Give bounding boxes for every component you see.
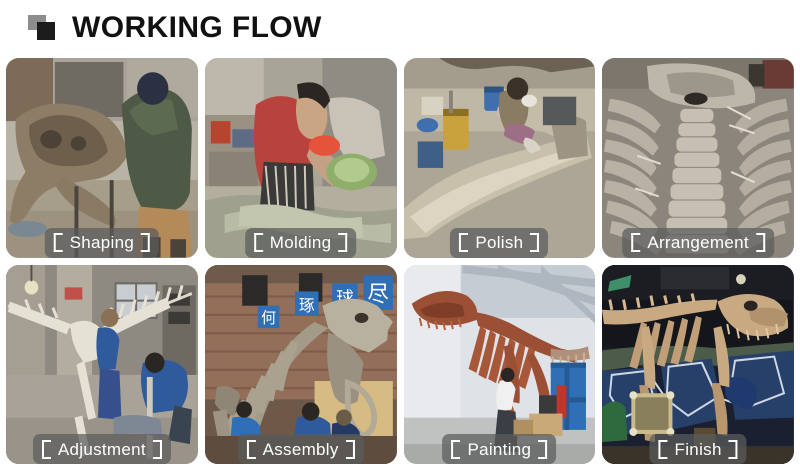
flow-step-finish[interactable]: Finish [602,265,794,465]
bracket-left-icon [631,233,640,252]
caption-shaping: Shaping [45,228,160,258]
caption-label: Arrangement [640,234,756,251]
caption-label: Painting [460,441,538,458]
flow-step-molding[interactable]: Molding [205,58,397,258]
flow-step-arrangement[interactable]: Arrangement [602,58,794,258]
bracket-right-icon [729,440,738,459]
flow-step-painting[interactable]: Painting [404,265,596,465]
svg-text:何: 何 [261,308,276,326]
caption-arrangement: Arrangement [622,228,774,258]
flow-step-assembly[interactable]: 何 琢 球 尽 [205,265,397,465]
caption-polish: Polish [450,228,548,258]
bracket-right-icon [338,233,347,252]
caption-label: Molding [263,234,339,251]
caption-label: Shaping [63,234,142,251]
bracket-left-icon [659,440,668,459]
bracket-left-icon [459,233,468,252]
bracket-right-icon [530,233,539,252]
bracket-left-icon [247,440,256,459]
flow-step-shaping[interactable]: Shaping [6,58,198,258]
working-flow-page: WORKING FLOW [0,0,800,470]
bracket-left-icon [254,233,263,252]
page-title: WORKING FLOW [72,13,322,43]
two-squares-icon [28,15,58,41]
bracket-right-icon [538,440,547,459]
bracket-left-icon [42,440,51,459]
caption-label: Finish [668,441,729,458]
page-header: WORKING FLOW [0,0,800,55]
bracket-right-icon [346,440,355,459]
caption-painting: Painting [442,434,556,464]
caption-adjustment: Adjustment [33,434,171,464]
bracket-right-icon [141,233,150,252]
caption-assembly: Assembly [238,434,364,464]
bracket-left-icon [54,233,63,252]
caption-label: Polish [468,234,530,251]
svg-text:琢: 琢 [299,295,315,314]
caption-label: Assembly [256,441,346,458]
caption-molding: Molding [245,228,357,258]
flow-step-polish[interactable]: Polish [404,58,596,258]
caption-label: Adjustment [51,441,153,458]
bracket-left-icon [451,440,460,459]
working-flow-grid: Shaping [6,58,794,464]
flow-step-adjustment[interactable]: Adjustment [6,265,198,465]
bracket-right-icon [756,233,765,252]
caption-finish: Finish [650,434,747,464]
bracket-right-icon [153,440,162,459]
icon-square-front [37,22,55,40]
